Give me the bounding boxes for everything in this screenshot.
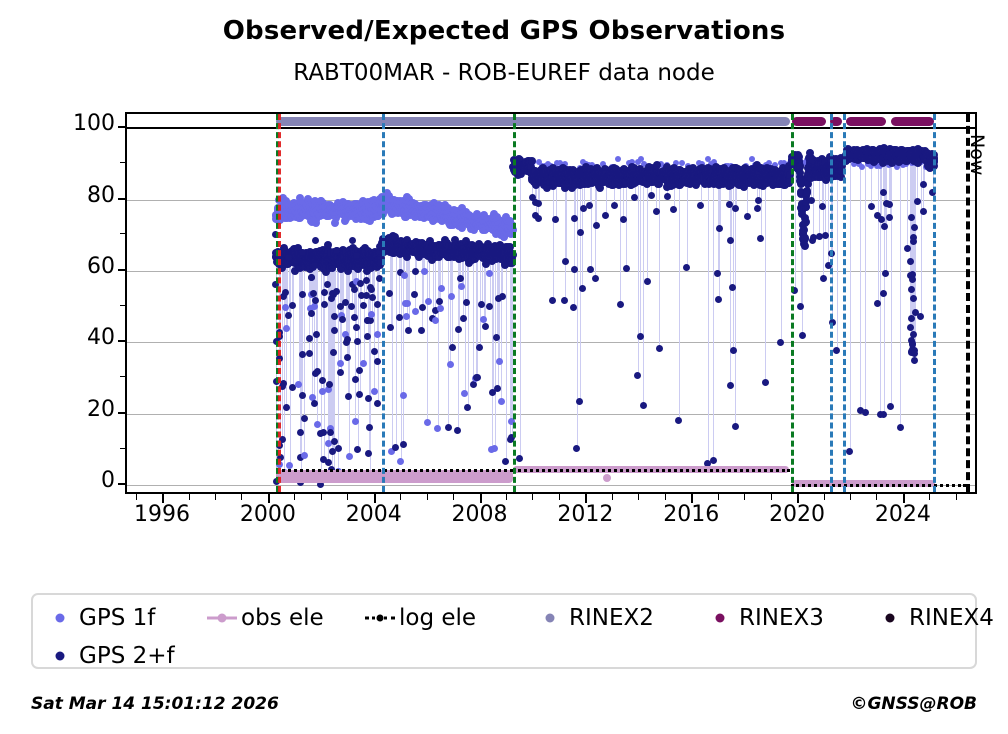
data-point [730, 347, 737, 354]
data-point [387, 324, 394, 331]
data-point [732, 205, 739, 212]
legend: GPS 1fobs elelog eleRINEX2RINEX3RINEX4GP… [31, 593, 977, 669]
data-point [496, 358, 503, 365]
data-point [432, 317, 439, 324]
data-point [573, 445, 580, 452]
data-point [329, 265, 336, 272]
vline-equipment-change [933, 114, 936, 492]
data-point [464, 404, 471, 411]
data-point [397, 458, 404, 465]
data-point [434, 425, 441, 432]
data-point [449, 344, 456, 351]
data-point [282, 304, 289, 311]
x-tick-mark-2009 [506, 494, 507, 500]
data-point [344, 354, 351, 361]
data-point [833, 347, 840, 354]
legend-item-rinex2[interactable]: RINEX2 [533, 599, 654, 637]
dropout-stem [900, 155, 901, 428]
legend-label: obs ele [241, 605, 324, 631]
data-point [455, 326, 462, 333]
data-point [412, 268, 419, 275]
data-point [463, 299, 470, 306]
data-point [371, 388, 378, 395]
dropout-stem [647, 174, 648, 282]
y-tick-mark-0 [118, 483, 125, 485]
data-point [880, 411, 887, 418]
dropout-stem [765, 174, 766, 383]
data-point [498, 398, 505, 405]
x-tick-label-2004: 2004 [329, 502, 419, 527]
data-point [571, 266, 578, 273]
legend-item-gps-2-f[interactable]: GPS 2+f [43, 637, 175, 675]
data-point [592, 275, 599, 282]
x-tick-mark-2010 [532, 494, 533, 500]
data-point [803, 189, 811, 197]
figure: Observed/Expected GPS Observations RABT0… [0, 0, 1008, 734]
data-point [880, 189, 887, 196]
x-tick-label-2024: 2024 [858, 502, 948, 527]
gridline-y-60 [127, 271, 975, 272]
data-point [623, 265, 630, 272]
data-point [603, 474, 611, 482]
x-tick-mark-2002 [321, 494, 322, 500]
dropout-stem [520, 173, 521, 458]
y-tick-mark-80 [118, 198, 125, 200]
data-point [306, 350, 313, 357]
legend-marker-dotted-icon [363, 611, 397, 625]
data-point [295, 381, 302, 388]
data-point [299, 351, 306, 358]
y-tick-mark-100 [118, 126, 125, 128]
data-point [419, 304, 426, 311]
data-point [400, 392, 407, 399]
dropout-stem [860, 156, 861, 411]
data-point [337, 369, 344, 376]
legend-marker-dot-icon [703, 611, 737, 625]
data-point [365, 450, 372, 457]
data-point [535, 215, 542, 222]
legend-dot [377, 615, 384, 622]
data-point [656, 345, 663, 352]
data-point [777, 339, 784, 346]
data-point [920, 208, 927, 215]
data-point [494, 385, 501, 392]
y-tick-mark-20 [118, 412, 125, 414]
legend-dot [56, 652, 65, 661]
data-point [374, 400, 381, 407]
data-point [374, 331, 381, 338]
data-point [920, 181, 927, 188]
data-point [615, 156, 621, 162]
data-point [313, 331, 320, 338]
dropout-stem [591, 179, 592, 269]
x-tick-mark-1998 [215, 494, 216, 500]
dropout-stem [687, 176, 688, 267]
data-point [868, 203, 875, 210]
x-tick-mark-2025 [929, 494, 930, 500]
gridline-y-80 [127, 200, 975, 201]
vline-receiver-change [513, 114, 516, 492]
data-point [587, 266, 594, 273]
axis-line-100 [127, 127, 975, 129]
data-point [360, 302, 367, 309]
x-tick-mark-1997 [189, 494, 190, 500]
dropout-stem [878, 159, 879, 303]
legend-marker-dot-icon [533, 611, 567, 625]
data-point [732, 423, 739, 430]
data-point [400, 441, 407, 448]
data-point [880, 290, 887, 297]
data-point [424, 419, 431, 426]
data-point [648, 192, 655, 199]
data-point [579, 285, 586, 292]
x-tick-mark-2021 [824, 494, 825, 500]
data-point [367, 317, 374, 324]
dropout-stem [468, 252, 469, 408]
legend-marker-dot-icon [873, 611, 907, 625]
data-point [482, 323, 489, 330]
y-tick-minor-50 [120, 305, 125, 306]
data-point [337, 360, 344, 367]
legend-marker-dot-icon [43, 611, 77, 625]
legend-label: RINEX4 [909, 605, 994, 631]
gridline-y-20 [127, 414, 975, 415]
data-point [354, 446, 361, 453]
x-tick-mark-2003 [347, 494, 348, 500]
legend-marker-line-dot-icon [205, 611, 239, 625]
y-tick-label-0: 0 [59, 468, 115, 493]
data-point [617, 301, 624, 308]
data-point [727, 237, 734, 244]
x-tick-mark-2007 [453, 494, 454, 500]
data-point [637, 333, 644, 340]
data-point [447, 361, 454, 368]
x-tick-mark-2018 [744, 494, 745, 500]
x-tick-label-2000: 2000 [223, 502, 313, 527]
data-point [897, 424, 904, 431]
data-point [371, 348, 378, 355]
dropout-stem [713, 171, 714, 461]
data-point [418, 327, 425, 334]
data-point [454, 427, 461, 434]
data-point [886, 214, 893, 221]
legend-dot [716, 614, 725, 623]
data-point [345, 393, 352, 400]
data-point [664, 193, 671, 200]
data-point [799, 332, 806, 339]
data-point [710, 457, 717, 464]
data-point [349, 237, 356, 244]
data-point [314, 368, 321, 375]
data-point [374, 301, 381, 308]
data-point [491, 445, 498, 452]
data-point [516, 455, 523, 462]
data-point [330, 349, 337, 356]
dropout-stem [837, 169, 838, 351]
rinex-bar-rinex3 [792, 117, 826, 126]
dropout-stem [643, 173, 644, 406]
data-point [365, 395, 372, 402]
data-point [445, 424, 452, 431]
data-point [887, 403, 894, 410]
y-tick-label-40: 40 [59, 325, 115, 350]
data-point [299, 392, 306, 399]
data-point [602, 212, 609, 219]
data-point [396, 314, 403, 321]
x-tick-mark-2011 [559, 494, 560, 500]
data-point [549, 297, 556, 304]
dropout-stem [396, 250, 397, 448]
data-point [480, 316, 487, 323]
data-point [640, 402, 647, 409]
dropout-stem [659, 181, 660, 349]
data-point [470, 381, 477, 388]
data-point [917, 313, 924, 320]
dropout-stem [495, 254, 496, 449]
data-point [882, 270, 889, 277]
y-tick-label-80: 80 [59, 183, 115, 208]
data-point [320, 429, 327, 436]
data-point [908, 286, 915, 293]
data-point [653, 208, 660, 215]
x-tick-mark-2017 [718, 494, 719, 500]
data-point [478, 301, 485, 308]
data-point [911, 350, 918, 357]
data-point [310, 290, 317, 297]
timestamp: Sat Mar 14 15:01:12 2026 [31, 694, 279, 714]
x-tick-mark-2026 [956, 494, 957, 500]
data-point [904, 245, 911, 252]
x-tick-label-2016: 2016 [646, 502, 736, 527]
dropout-stem [679, 179, 680, 420]
x-tick-mark-2023 [876, 494, 877, 500]
data-point [911, 357, 918, 364]
vline-now [966, 114, 970, 492]
rinex-bar-rinex3 [891, 117, 934, 126]
data-point [611, 202, 618, 209]
log-ele-line [791, 484, 966, 487]
data-point [878, 216, 885, 223]
legend-item-rinex3[interactable]: RINEX3 [703, 599, 824, 637]
data-point [353, 252, 360, 259]
x-tick-mark-2006 [427, 494, 428, 500]
data-point [368, 286, 375, 293]
data-point [552, 216, 559, 223]
data-point [352, 418, 359, 425]
x-tick-label-2008: 2008 [435, 502, 525, 527]
y-tick-label-60: 60 [59, 254, 115, 279]
data-point [910, 238, 917, 245]
data-point [436, 298, 443, 305]
data-point [801, 235, 809, 243]
data-point [754, 205, 761, 212]
data-point [907, 324, 914, 331]
dropout-stem [708, 175, 709, 464]
data-point [634, 372, 641, 379]
page-title: Observed/Expected GPS Observations [0, 16, 1008, 46]
legend-label: GPS 2+f [79, 643, 175, 669]
data-point [405, 327, 412, 334]
x-tick-label-2020: 2020 [752, 502, 842, 527]
dropout-stem [317, 252, 318, 425]
dropout-stem [506, 259, 507, 461]
dropout-stem [620, 172, 621, 305]
x-tick-mark-2014 [638, 494, 639, 500]
gridline-y-40 [127, 342, 975, 343]
vline-station-start-secondary [278, 114, 281, 492]
data-point [881, 223, 888, 230]
log-ele-line [276, 469, 513, 472]
dropout-stem [891, 152, 892, 407]
dropout-stem [638, 174, 639, 375]
data-point [299, 249, 306, 256]
data-point [301, 415, 308, 422]
copyright: ©GNSS@ROB [850, 694, 977, 714]
data-point [460, 315, 467, 322]
y-tick-mark-60 [118, 269, 125, 271]
data-point [374, 358, 381, 365]
data-point [356, 367, 363, 374]
data-point [679, 160, 685, 166]
plot-area [125, 112, 977, 494]
dropout-stem [733, 173, 734, 350]
dropout-stem [907, 156, 908, 249]
data-point [716, 225, 723, 232]
legend-item-gps-1f[interactable]: GPS 1f [43, 599, 155, 637]
data-point [348, 303, 355, 310]
data-point [324, 281, 331, 288]
data-point [670, 206, 677, 213]
legend-item-log-ele[interactable]: log ele [363, 599, 476, 637]
data-point [577, 229, 584, 236]
data-point [346, 453, 353, 460]
dropout-stem [850, 157, 851, 451]
dropout-stem [448, 257, 449, 427]
data-point [437, 305, 444, 312]
data-point [644, 278, 651, 285]
data-point [474, 374, 481, 381]
data-point [822, 232, 829, 239]
legend-item-obs-ele[interactable]: obs ele [205, 599, 324, 637]
data-point [535, 200, 542, 207]
data-point [335, 445, 342, 452]
data-point [499, 293, 506, 300]
dropout-stem [781, 171, 782, 343]
legend-marker-dot-icon [43, 649, 77, 663]
data-point [910, 295, 917, 302]
data-point [562, 258, 569, 265]
data-point [404, 300, 411, 307]
data-point [363, 277, 370, 284]
dropout-stem [477, 249, 478, 378]
legend-item-rinex4[interactable]: RINEX4 [873, 599, 994, 637]
x-tick-mark-2015 [665, 494, 666, 500]
y-tick-label-20: 20 [59, 397, 115, 422]
y-tick-minor-10 [120, 448, 125, 449]
data-point [586, 202, 593, 209]
x-tick-mark-1995 [136, 494, 137, 500]
y-tick-minor-90 [120, 162, 125, 163]
x-tick-mark-2005 [400, 494, 401, 500]
vline-equipment-change [843, 114, 846, 492]
data-point [438, 285, 445, 292]
data-point [351, 286, 358, 293]
data-point [911, 224, 918, 231]
dropout-stem [290, 258, 291, 466]
x-tick-mark-2001 [294, 494, 295, 500]
vline-receiver-change [791, 114, 794, 492]
data-point [820, 275, 827, 282]
legend-label: GPS 1f [79, 605, 155, 631]
data-point [289, 302, 296, 309]
dropout-stem [473, 252, 474, 385]
page-subtitle: RABT00MAR - ROB-EUREF data node [0, 60, 1008, 86]
data-point [360, 360, 367, 367]
data-point [476, 344, 483, 351]
dropout-stem [465, 257, 466, 394]
data-point [561, 297, 568, 304]
data-point [762, 379, 769, 386]
data-point [319, 377, 326, 384]
y-tick-mark-40 [118, 340, 125, 342]
data-point [727, 382, 734, 389]
data-point [697, 202, 704, 209]
rinex-bar-rinex3 [846, 117, 886, 126]
data-point [502, 458, 509, 465]
data-point [312, 237, 319, 244]
data-point [392, 444, 399, 451]
dropout-stem [626, 182, 627, 268]
vline-equipment-change [830, 114, 833, 492]
data-point [683, 264, 690, 271]
data-point [802, 218, 810, 226]
data-point [366, 424, 373, 431]
data-point [886, 201, 893, 208]
data-point [321, 301, 328, 308]
x-tick-label-2012: 2012 [540, 502, 630, 527]
data-point [285, 312, 292, 319]
data-point [301, 452, 308, 459]
data-point [914, 198, 921, 205]
data-point [411, 291, 418, 298]
data-point [593, 222, 600, 229]
data-point [352, 376, 359, 383]
x-tick-label-1996: 1996 [117, 502, 207, 527]
data-point [819, 203, 826, 210]
data-point [744, 213, 751, 220]
rinex-bar-rinex2 [276, 117, 790, 126]
data-point [458, 283, 465, 290]
x-tick-mark-1999 [241, 494, 242, 500]
data-point [910, 331, 917, 338]
legend-label: RINEX3 [739, 605, 824, 631]
vline-equipment-change [382, 114, 385, 492]
data-point [715, 296, 722, 303]
legend-dot [56, 614, 65, 623]
legend-label: RINEX2 [569, 605, 654, 631]
data-point [299, 291, 306, 298]
dropout-stem [401, 249, 402, 461]
data-point [862, 409, 869, 416]
dropout-stem [499, 252, 500, 361]
x-tick-mark-2019 [771, 494, 772, 500]
data-point [412, 308, 419, 315]
dropout-stem [392, 242, 393, 452]
data-point [808, 197, 815, 204]
data-point [757, 235, 764, 242]
data-point [401, 272, 408, 279]
dropout-stem [921, 155, 922, 316]
